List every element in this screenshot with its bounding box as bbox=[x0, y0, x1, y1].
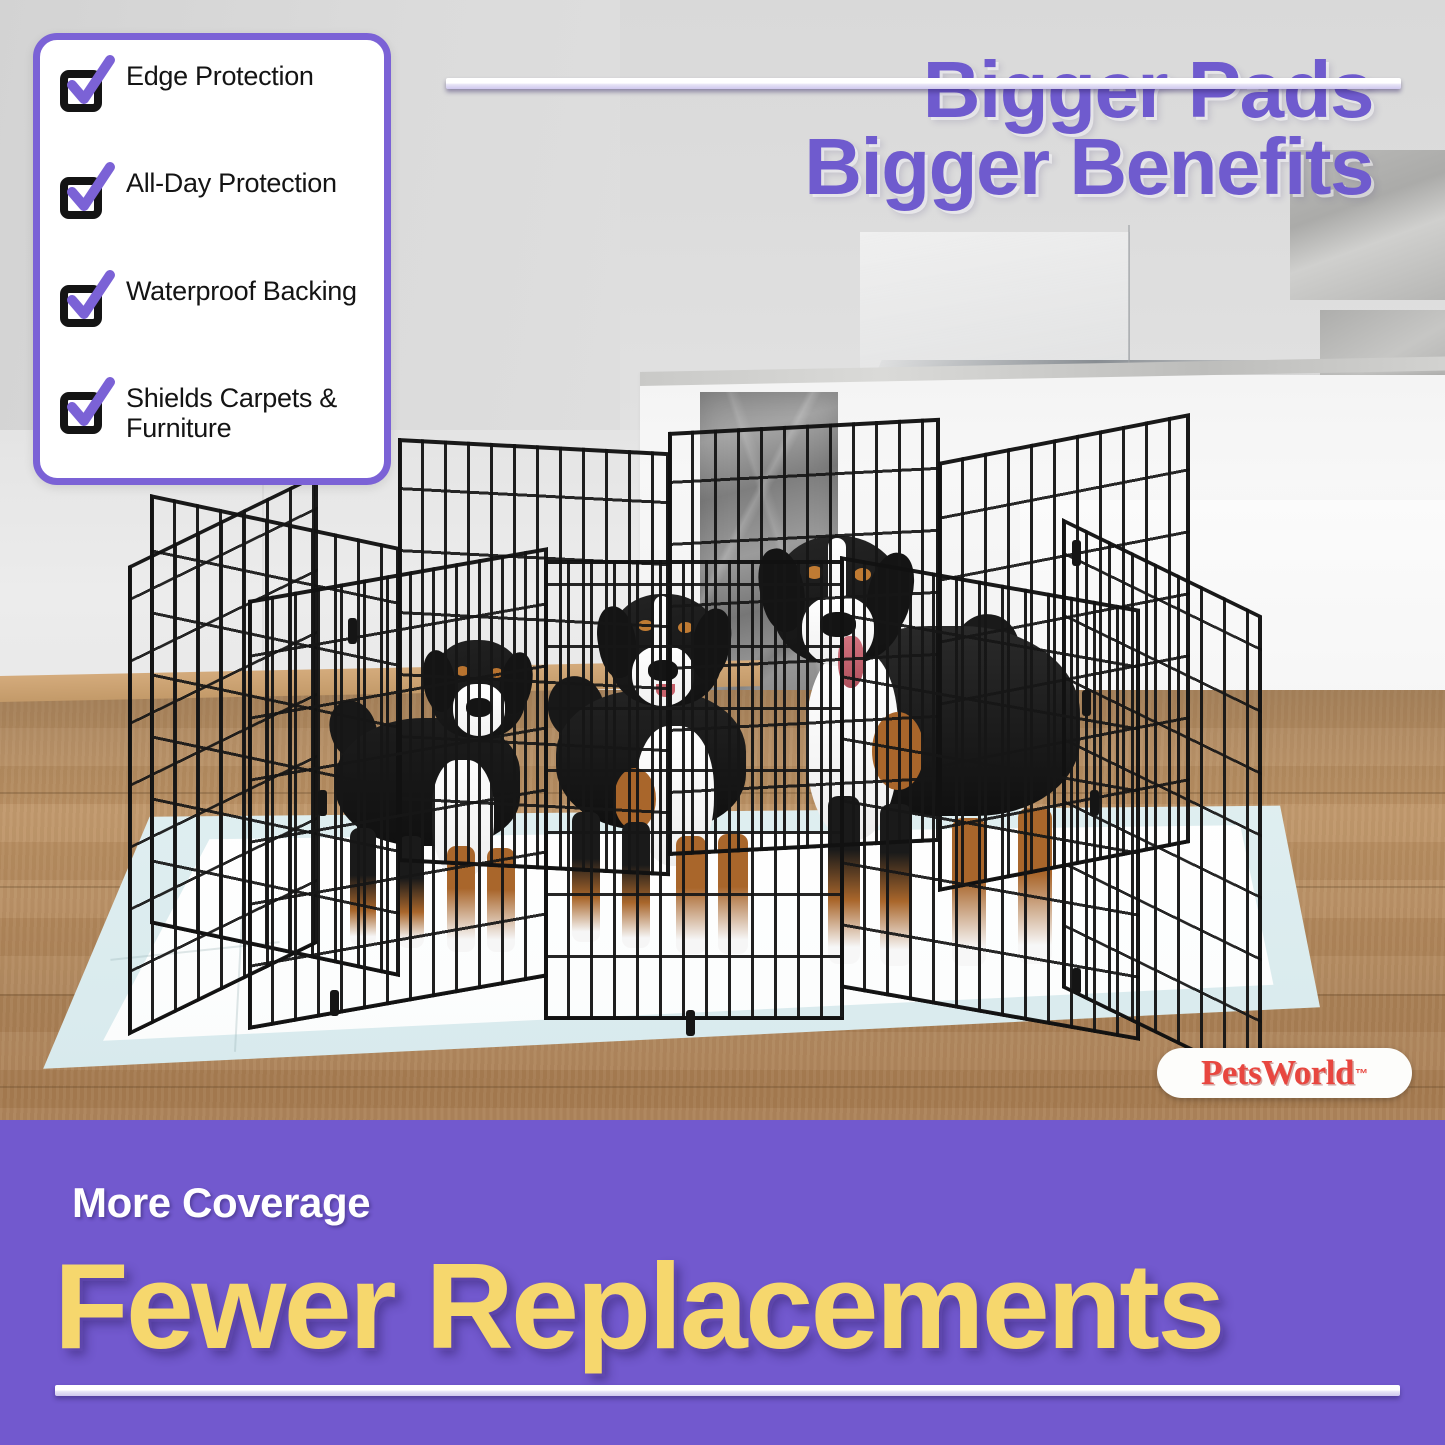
dog-tan-marking bbox=[872, 712, 924, 790]
feature-item-waterproof-backing: Waterproof Backing bbox=[58, 275, 370, 361]
dog-eyebrow-tan-left bbox=[456, 666, 469, 676]
trademark-symbol: ™ bbox=[1355, 1066, 1368, 1081]
feature-item-shields-carpets-furniture: Shields Carpets & Furniture bbox=[58, 382, 370, 468]
checkbox-checked-icon bbox=[58, 64, 112, 114]
dog-nose bbox=[466, 698, 492, 717]
dog-leg bbox=[487, 848, 515, 952]
dog-leg bbox=[676, 836, 706, 954]
dog-leg bbox=[622, 822, 650, 948]
dog-leg bbox=[880, 804, 912, 966]
dog-leg bbox=[718, 834, 748, 954]
dog-eyebrow-tan-right bbox=[678, 622, 693, 633]
dog-leg bbox=[828, 796, 860, 964]
feature-list-card: Edge Protection All-Day Protection Water… bbox=[33, 33, 391, 485]
checkbox-checked-icon bbox=[58, 386, 112, 436]
banner-divider-bottom bbox=[55, 1385, 1400, 1396]
dog-nose bbox=[648, 660, 678, 681]
dog-leg bbox=[1018, 808, 1052, 964]
headline: Bigger Pads Bigger Benefits bbox=[804, 52, 1373, 206]
dog-eyebrow-tan-right bbox=[854, 568, 871, 581]
dog-eyebrow-tan-right bbox=[490, 668, 503, 678]
banner-kicker-text: More Coverage bbox=[72, 1179, 370, 1227]
dog-leg bbox=[447, 846, 475, 952]
feature-item-edge-protection: Edge Protection bbox=[58, 60, 370, 146]
feature-label: Edge Protection bbox=[126, 60, 314, 92]
dog-tongue bbox=[838, 636, 864, 688]
dog-leg bbox=[572, 812, 600, 942]
dog-tan-marking bbox=[614, 768, 656, 830]
feature-item-all-day-protection: All-Day Protection bbox=[58, 167, 370, 253]
checkbox-checked-icon bbox=[58, 171, 112, 221]
dog-leg bbox=[398, 836, 424, 948]
product-marketing-image: Edge Protection All-Day Protection Water… bbox=[0, 0, 1445, 1445]
brand-logo: PetsWorld™ bbox=[1157, 1048, 1412, 1098]
dog-tongue bbox=[656, 684, 675, 697]
feature-label: Shields Carpets & Furniture bbox=[126, 382, 370, 443]
dog-eyebrow-tan-left bbox=[638, 620, 653, 631]
feature-label: Waterproof Backing bbox=[126, 275, 357, 307]
dog-eyebrow-tan-left bbox=[806, 566, 823, 579]
banner-main-text: Fewer Replacements bbox=[54, 1245, 1434, 1367]
dog-leg bbox=[952, 818, 986, 966]
checkbox-checked-icon bbox=[58, 279, 112, 329]
banner-divider-top bbox=[446, 78, 1401, 89]
headline-line-2: Bigger Benefits bbox=[804, 129, 1373, 206]
brand-name: PetsWorld bbox=[1201, 1053, 1354, 1093]
dog-leg bbox=[350, 828, 376, 946]
headline-line-1: Bigger Pads bbox=[923, 45, 1373, 134]
feature-label: All-Day Protection bbox=[126, 167, 337, 199]
dog-nose bbox=[820, 612, 856, 637]
banner-kicker-row: More Coverage bbox=[0, 1174, 1445, 1232]
